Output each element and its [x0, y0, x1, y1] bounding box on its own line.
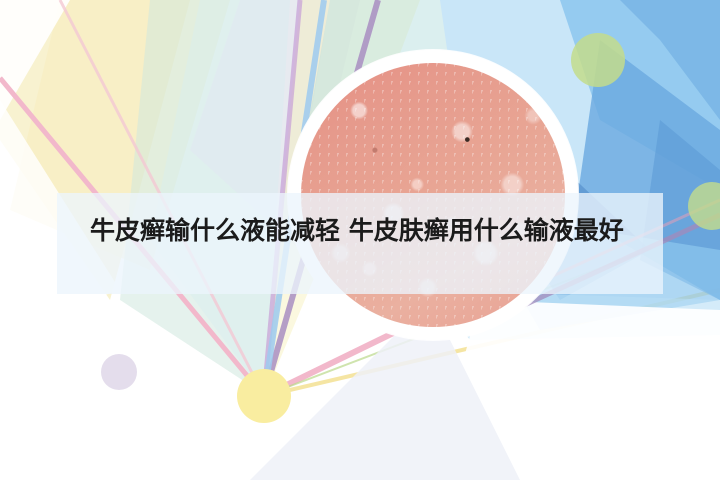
green-circle-top-icon	[571, 33, 625, 87]
page-title: 牛皮癣输什么液能减轻 牛皮肤癣用什么输液最好	[90, 212, 650, 250]
yellow-circle-icon	[237, 369, 291, 423]
lavender-circle-icon	[101, 354, 137, 390]
image-canvas: 牛皮癣输什么液能减轻 牛皮肤癣用什么输液最好	[0, 0, 720, 480]
